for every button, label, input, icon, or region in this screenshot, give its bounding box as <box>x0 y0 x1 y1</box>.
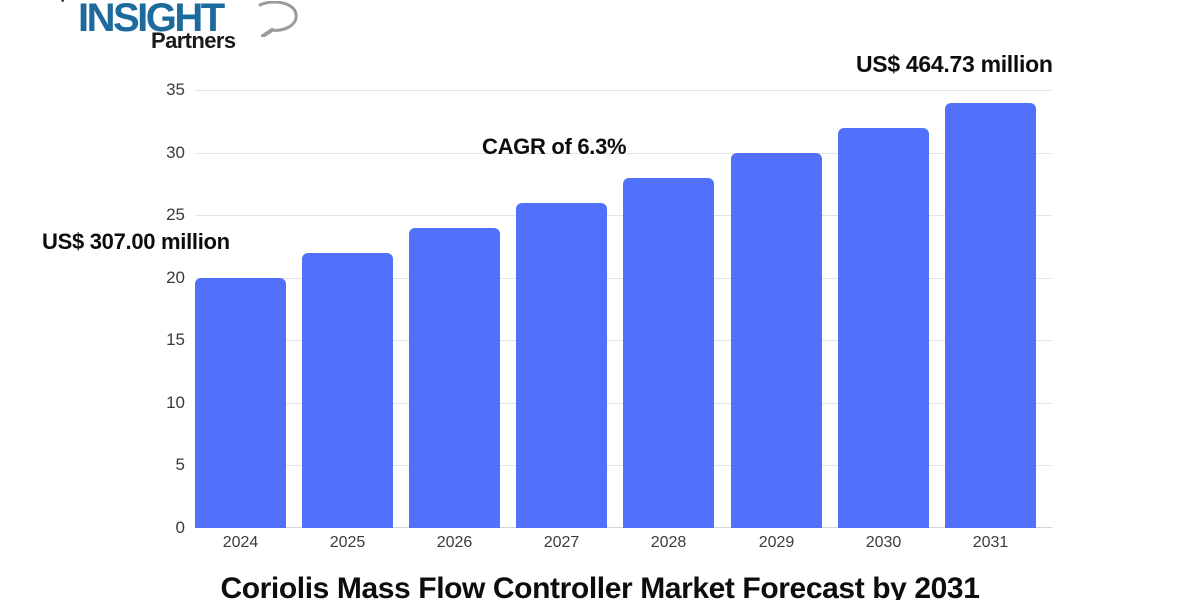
bar-2029[interactable] <box>731 153 822 528</box>
ytick-label: 0 <box>145 518 185 538</box>
bar-chart: 35 30 25 20 15 10 5 0 <box>0 0 1200 600</box>
ytick-label: 15 <box>145 330 185 350</box>
ytick-label: 10 <box>145 393 185 413</box>
xtick-label-2024: 2024 <box>195 534 286 552</box>
annotation-end-value: US$ 464.73 million <box>856 51 1053 78</box>
xtick-label-2031: 2031 <box>945 534 1036 552</box>
bar-2030[interactable] <box>838 128 929 529</box>
chart-title: Coriolis Mass Flow Controller Market For… <box>0 572 1200 600</box>
bar-2027[interactable] <box>516 203 607 528</box>
xtick-label-2029: 2029 <box>731 534 822 552</box>
xtick-label-2030: 2030 <box>838 534 929 552</box>
bar-2026[interactable] <box>409 228 500 528</box>
ytick-label: 35 <box>145 80 185 100</box>
ytick-label: 20 <box>145 268 185 288</box>
xtick-label-2028: 2028 <box>623 534 714 552</box>
ytick-label: 5 <box>145 455 185 475</box>
xtick-label-2026: 2026 <box>409 534 500 552</box>
xtick-label-2027: 2027 <box>516 534 607 552</box>
chart-page: The INSIGHT Partners 35 30 25 20 15 10 5… <box>0 0 1200 600</box>
bar-2025[interactable] <box>302 253 393 528</box>
ytick-label: 30 <box>145 143 185 163</box>
ytick-label: 25 <box>145 205 185 225</box>
bar-2028[interactable] <box>623 178 714 528</box>
annotation-start-value: US$ 307.00 million <box>42 229 230 255</box>
bar-2024[interactable] <box>195 278 286 528</box>
annotation-cagr: CAGR of 6.3% <box>482 134 626 160</box>
bar-2031[interactable] <box>945 103 1036 529</box>
xtick-label-2025: 2025 <box>302 534 393 552</box>
